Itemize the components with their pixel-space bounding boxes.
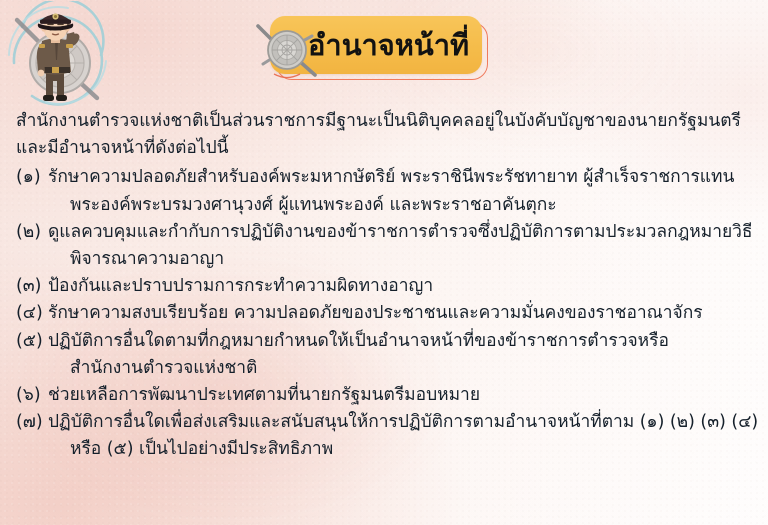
list-item-line1: รักษาความสงบเรียบร้อย ความปลอดภัยของประช… [48,303,703,323]
list-item-line2: พิจารณาความอาญา [48,246,760,273]
list-item-number: (๕) [16,328,46,355]
list-item-line1: ดูแลควบคุมและกำกับการปฏิบัติงานของข้าราช… [48,222,753,242]
content-body: สำนักงานตำรวจแห่งชาติเป็นส่วนราชการมีฐาน… [16,108,760,464]
intro-paragraph: สำนักงานตำรวจแห่งชาติเป็นส่วนราชการมีฐาน… [16,108,758,162]
list-item-text: ป้องกันและปราบปรามการกระทำความผิดทางอาญา [46,273,760,300]
list-item-number: (๗) [16,409,46,436]
list-item: (๕) ปฏิบัติการอื่นใดตามที่กฎหมายกำหนดให้… [16,328,760,382]
slide-page: อำนาจหน้าที่ [0,0,768,525]
list-item: (๖) ช่วยเหลือการพัฒนาประเทศตามที่นายกรัฐ… [16,382,760,409]
duties-list: (๑) รักษาความปลอดภัยสำหรับองค์พระมหากษัต… [16,164,760,463]
list-item-line1: ปฏิบัติการอื่นใดเพื่อส่งเสริมและสนับสนุน… [48,412,758,432]
list-item-text: ดูแลควบคุมและกำกับการปฏิบัติงานของข้าราช… [46,219,760,273]
list-item: (๗) ปฏิบัติการอื่นใดเพื่อส่งเสริมและสนับ… [16,409,760,463]
list-item: (๔) รักษาความสงบเรียบร้อย ความปลอดภัยของ… [16,300,760,327]
list-item-line1: ช่วยเหลือการพัฒนาประเทศตามที่นายกรัฐมนตร… [48,385,480,405]
list-item-text: ปฏิบัติการอื่นใดเพื่อส่งเสริมและสนับสนุน… [46,409,760,463]
saluting-police-officer-icon [2,1,118,109]
list-item-number: (๓) [16,273,46,300]
list-item-line2: หรือ (๕) เป็นไปอย่างมีประสิทธิภาพ [48,436,760,463]
list-item-line1: ปฏิบัติการอื่นใดตามที่กฎหมายกำหนดให้เป็น… [48,331,669,351]
list-item-line1: รักษาความปลอดภัยสำหรับองค์พระมหากษัตริย์… [48,167,734,187]
list-item-number: (๒) [16,219,46,246]
list-item-line2: สำนักงานตำรวจแห่งชาติ [48,355,760,382]
list-item-text: รักษาความปลอดภัยสำหรับองค์พระมหากษัตริย์… [46,164,760,218]
list-item-text: ช่วยเหลือการพัฒนาประเทศตามที่นายกรัฐมนตร… [46,382,760,409]
police-emblem-icon [252,18,324,82]
list-item-line2: พระองค์พระบรมวงศานุวงศ์ ผู้แทนพระองค์ แล… [48,192,760,219]
list-item-number: (๑) [16,164,46,191]
list-item-number: (๔) [16,300,46,327]
list-item-text: ปฏิบัติการอื่นใดตามที่กฎหมายกำหนดให้เป็น… [46,328,760,382]
list-item-line1: ป้องกันและปราบปรามการกระทำความผิดทางอาญา [48,276,433,296]
list-item: (๓) ป้องกันและปราบปรามการกระทำความผิดทาง… [16,273,760,300]
list-item: (๒) ดูแลควบคุมและกำกับการปฏิบัติงานของข้… [16,219,760,273]
list-item: (๑) รักษาความปลอดภัยสำหรับองค์พระมหากษัต… [16,164,760,218]
list-item-text: รักษาความสงบเรียบร้อย ความปลอดภัยของประช… [46,300,760,327]
list-item-number: (๖) [16,382,46,409]
page-title: อำนาจหน้าที่ [308,16,488,74]
page-title-banner: อำนาจหน้าที่ [252,12,502,82]
